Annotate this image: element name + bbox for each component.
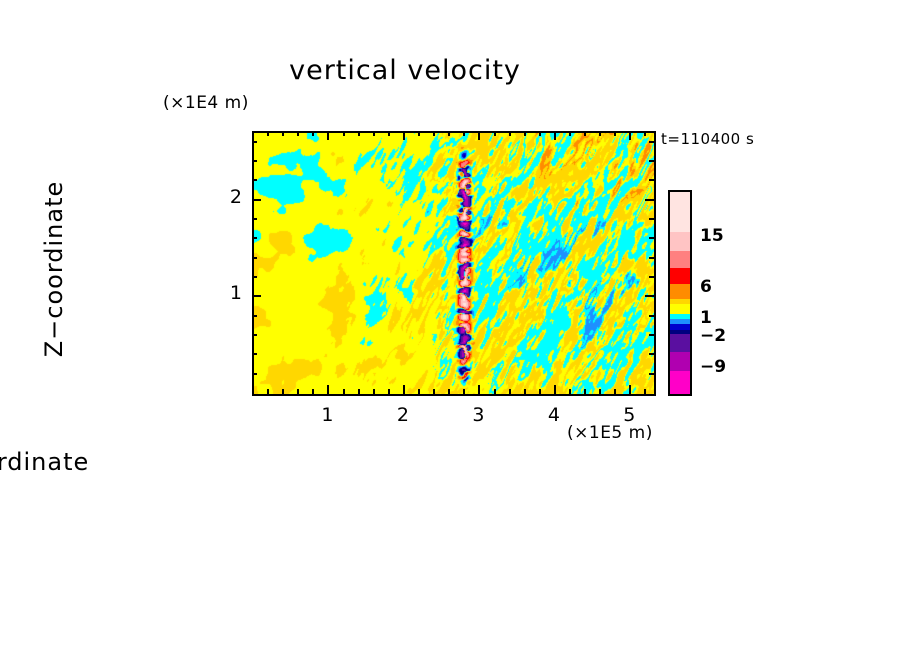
tick-mark <box>312 389 314 394</box>
tick-mark <box>282 131 284 136</box>
tick-mark <box>478 131 480 140</box>
tick-mark <box>539 389 541 394</box>
tick-mark <box>569 389 571 394</box>
tick-mark <box>649 353 654 355</box>
tick-mark <box>358 389 360 394</box>
tick-mark <box>403 131 405 140</box>
tick-mark <box>252 257 257 259</box>
tick-mark <box>327 385 329 394</box>
tick-mark <box>297 131 299 136</box>
tick-mark <box>649 257 654 259</box>
x-tick-label-2: 2 <box>381 404 425 426</box>
x-tick-label-1: 1 <box>305 404 349 426</box>
tick-mark <box>252 334 257 336</box>
tick-mark <box>252 218 257 220</box>
tick-mark <box>478 385 480 394</box>
colorbar-band-10 <box>670 251 690 269</box>
tick-mark <box>252 141 257 143</box>
contour-field <box>254 133 654 394</box>
tick-mark <box>403 385 405 394</box>
tick-mark <box>343 131 345 136</box>
tick-mark <box>599 389 601 394</box>
tick-mark <box>327 131 329 140</box>
tick-mark <box>509 389 511 394</box>
tick-mark <box>252 179 257 181</box>
tick-mark <box>584 389 586 394</box>
colorbar-band--14 <box>670 371 690 396</box>
tick-mark <box>629 131 631 140</box>
colorbar-band-15 <box>670 232 690 251</box>
colorbar-label-2: 1 <box>700 308 712 328</box>
y-tick-label-1: 1 <box>216 282 242 304</box>
tick-mark <box>649 334 654 336</box>
x-axis-title: X−coordinate <box>0 448 453 476</box>
tick-mark <box>649 218 654 220</box>
tick-mark <box>252 160 257 162</box>
tick-mark <box>373 389 375 394</box>
tick-mark <box>252 199 261 201</box>
tick-mark <box>433 131 435 136</box>
colorbar-band-6 <box>670 268 690 285</box>
tick-mark <box>252 295 261 297</box>
tick-mark <box>494 131 496 136</box>
tick-mark <box>252 353 257 355</box>
tick-mark <box>644 131 646 136</box>
tick-mark <box>448 389 450 394</box>
tick-mark <box>649 237 654 239</box>
tick-mark <box>584 131 586 136</box>
colorbar-band-30 <box>670 192 690 234</box>
colorbar-label-4: −9 <box>700 357 726 377</box>
colorbar-band--5 <box>670 334 690 353</box>
tick-mark <box>629 385 631 394</box>
tick-mark <box>252 373 257 375</box>
tick-mark <box>649 276 654 278</box>
tick-mark <box>418 131 420 136</box>
colorbar-label-3: −2 <box>700 326 726 346</box>
tick-mark <box>463 131 465 136</box>
tick-mark <box>312 131 314 136</box>
tick-mark <box>267 131 269 136</box>
tick-mark <box>252 237 257 239</box>
tick-mark <box>554 131 556 140</box>
tick-mark <box>614 131 616 136</box>
timestamp-annotation: t=110400 s <box>661 130 754 148</box>
tick-mark <box>649 373 654 375</box>
tick-mark <box>494 389 496 394</box>
tick-mark <box>645 295 654 297</box>
tick-mark <box>448 131 450 136</box>
tick-mark <box>649 179 654 181</box>
tick-mark <box>509 131 511 136</box>
colorbar-label-1: 6 <box>700 277 712 297</box>
tick-mark <box>569 131 571 136</box>
y-unit-label: (×1E4 m) <box>163 93 249 113</box>
colorbar-band-4 <box>670 284 690 300</box>
y-axis-title: Z−coordinate <box>40 149 68 389</box>
tick-mark <box>418 389 420 394</box>
x-tick-label-3: 3 <box>456 404 500 426</box>
tick-mark <box>649 160 654 162</box>
tick-mark <box>267 389 269 394</box>
colorbar-label-0: 15 <box>700 226 724 246</box>
colorbar-band--9 <box>670 352 690 371</box>
y-tick-label-2: 2 <box>216 186 242 208</box>
tick-mark <box>599 131 601 136</box>
tick-mark <box>388 389 390 394</box>
tick-mark <box>373 131 375 136</box>
tick-mark <box>649 315 654 317</box>
page-title: vertical velocity <box>0 55 857 86</box>
tick-mark <box>252 276 257 278</box>
tick-mark <box>554 385 556 394</box>
tick-mark <box>644 389 646 394</box>
tick-mark <box>388 131 390 136</box>
tick-mark <box>358 131 360 136</box>
colorbar <box>668 190 692 396</box>
tick-mark <box>614 389 616 394</box>
tick-mark <box>645 199 654 201</box>
tick-mark <box>524 131 526 136</box>
plot-area <box>252 131 656 396</box>
figure-canvas: vertical velocity (×1E4 m) t=110400 s 12… <box>0 0 904 654</box>
tick-mark <box>282 389 284 394</box>
tick-mark <box>524 389 526 394</box>
tick-mark <box>539 131 541 136</box>
tick-mark <box>297 389 299 394</box>
tick-mark <box>343 389 345 394</box>
tick-mark <box>649 141 654 143</box>
tick-mark <box>433 389 435 394</box>
x-unit-label: (×1E5 m) <box>567 423 653 443</box>
tick-mark <box>463 389 465 394</box>
tick-mark <box>252 315 257 317</box>
